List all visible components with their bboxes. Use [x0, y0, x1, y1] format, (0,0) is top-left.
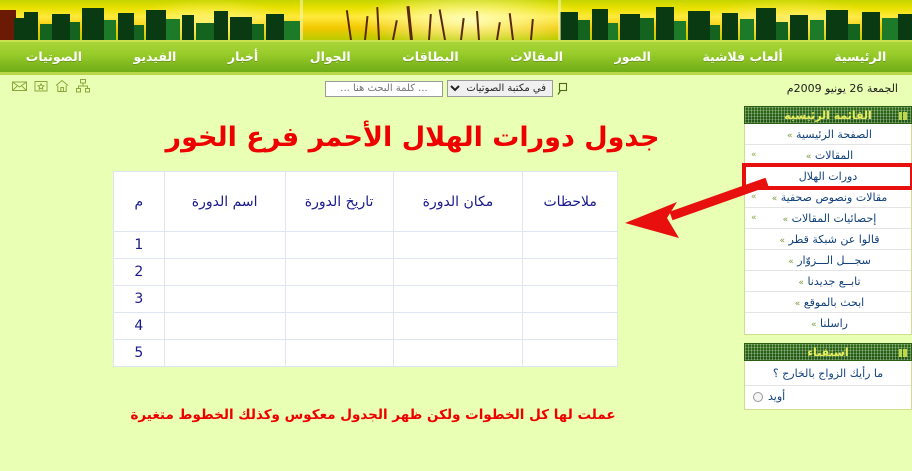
sitemap-icon[interactable]: [76, 79, 90, 93]
nav-item-1[interactable]: ألعاب فلاشية: [677, 42, 809, 72]
sidebar-item-label: قالوا عن شبكة قطر: [789, 233, 880, 246]
mail-icon[interactable]: [12, 79, 27, 93]
cell-place: [393, 259, 523, 286]
sidebar-item-label: الصفحة الرئيسية: [796, 128, 872, 141]
search-input[interactable]: [325, 81, 443, 97]
nav-item-3[interactable]: المقالات: [484, 42, 588, 72]
table-row: 5: [114, 340, 618, 367]
cell-number: 2: [114, 259, 165, 286]
banner-city-right: [560, 6, 912, 40]
chevron-icon: »: [811, 320, 817, 330]
sidebar-item-articles[interactable]: » المقالات »: [745, 145, 911, 166]
banner-city-left: [0, 6, 300, 40]
th-place: مكان الدورة: [393, 172, 523, 232]
cell-notes: [523, 340, 618, 367]
chevron-far-icon: »: [751, 187, 757, 208]
nav-item-0[interactable]: الرئيسية: [809, 42, 912, 72]
table-row: 4: [114, 313, 618, 340]
poll-radio-icon[interactable]: [753, 392, 763, 402]
courses-table-head: ملاحظات مكان الدورة تاريخ الدورة اسم الد…: [114, 172, 618, 232]
utility-bar: في مكتبة الصوتيات الجمعة 26 يونيو 2009م: [0, 76, 912, 102]
cell-notes: [523, 313, 618, 340]
th-name: اسم الدورة: [164, 172, 285, 232]
sidebar-item-label: ابحث بالموقع: [804, 296, 864, 309]
utility-icon-group: [12, 79, 90, 93]
sidebar-item-home[interactable]: الصفحة الرئيسية »: [745, 124, 911, 145]
chevron-icon: »: [787, 131, 793, 141]
nav-item-5[interactable]: الجوال: [284, 42, 377, 72]
site-banner: [0, 0, 912, 40]
search-icon[interactable]: [557, 82, 571, 96]
sidebar-item-label: مقالات ونصوص صحفية: [781, 191, 888, 204]
cell-number: 4: [114, 313, 165, 340]
courses-table-body: 1 2 3: [114, 232, 618, 367]
cell-place: [393, 286, 523, 313]
sidebar-item-label: تابــع جديدنا: [807, 275, 860, 288]
nav-item-7[interactable]: الفيديو: [108, 42, 202, 72]
sidebar-item-site-search[interactable]: ابحث بالموقع »: [745, 292, 911, 313]
cell-date: [285, 313, 393, 340]
cell-number: 3: [114, 286, 165, 313]
current-date: الجمعة 26 يونيو 2009م: [787, 82, 898, 95]
menu-grip-icon: [899, 112, 907, 120]
chevron-icon: »: [798, 278, 804, 288]
th-notes: ملاحظات: [523, 172, 618, 232]
table-row: 3: [114, 286, 618, 313]
cell-date: [285, 340, 393, 367]
cell-number: 5: [114, 340, 165, 367]
poll-option-label: أويد: [768, 390, 785, 403]
sidebar-item-hilal-courses[interactable]: دورات الهلال: [745, 166, 911, 187]
main-menu-box: القائمة الرئيسية الصفحة الرئيسية » » الم…: [744, 106, 912, 335]
sidebar-item-said-about-us[interactable]: قالوا عن شبكة قطر »: [745, 229, 911, 250]
sidebar-item-label: المقالات: [815, 149, 853, 162]
cell-place: [393, 313, 523, 340]
cell-notes: [523, 232, 618, 259]
table-row: 2: [114, 259, 618, 286]
sidebar-item-press-articles[interactable]: » مقالات ونصوص صحفية »: [745, 187, 911, 208]
main-menu-title: القائمة الرئيسية: [784, 109, 872, 122]
cell-date: [285, 259, 393, 286]
page-title: جدول دورات الهلال الأحمر فرع الخور: [0, 122, 735, 153]
main-menu-body: الصفحة الرئيسية » » المقالات » دورات اله…: [744, 124, 912, 335]
nav-underline: [0, 72, 912, 75]
main-navigation: الرئيسية ألعاب فلاشية الصور المقالات الب…: [0, 42, 912, 72]
poll-question: ما رأيك الزواج بالخارج ؟: [745, 361, 911, 386]
chevron-icon: »: [788, 257, 794, 267]
search-scope-select[interactable]: في مكتبة الصوتيات: [447, 80, 553, 97]
main-menu-header: القائمة الرئيسية: [744, 106, 912, 124]
cell-name: [164, 340, 285, 367]
nav-item-2[interactable]: الصور: [589, 42, 677, 72]
cell-name: [164, 232, 285, 259]
sidebar-item-contact-us[interactable]: راسلنا »: [745, 313, 911, 334]
sidebar-item-label: إحصائيات المقالات: [792, 212, 877, 225]
nav-item-8[interactable]: الصوتيات: [0, 42, 108, 72]
poll-header: استفتاء: [744, 343, 912, 361]
banner-trees: [330, 4, 560, 40]
cell-notes: [523, 259, 618, 286]
sidebar-item-label: دورات الهلال: [799, 170, 857, 183]
courses-table-wrapper: ملاحظات مكان الدورة تاريخ الدورة اسم الد…: [113, 171, 618, 367]
poll-grip-icon: [899, 349, 907, 357]
cell-date: [285, 286, 393, 313]
sidebar-item-article-stats[interactable]: » إحصائيات المقالات »: [745, 208, 911, 229]
chevron-far-icon: »: [751, 145, 757, 166]
favorites-icon[interactable]: [34, 79, 48, 93]
cell-number: 1: [114, 232, 165, 259]
cell-name: [164, 259, 285, 286]
cell-notes: [523, 286, 618, 313]
main-content: جدول دورات الهلال الأحمر فرع الخور ملاحظ…: [0, 106, 735, 161]
sidebar-item-label: سجـــل الـــزوّار: [797, 254, 871, 267]
sidebar-item-whats-new[interactable]: تابــع جديدنا »: [745, 271, 911, 292]
annotation-note: عملت لها كل الخطوات ولكن ظهر الجدول معكو…: [118, 406, 628, 426]
nav-item-6[interactable]: أخبار: [202, 42, 284, 72]
cell-name: [164, 286, 285, 313]
page-root: الرئيسية ألعاب فلاشية الصور المقالات الب…: [0, 0, 912, 471]
table-row: 1: [114, 232, 618, 259]
chevron-icon: »: [779, 236, 785, 246]
chevron-icon: »: [795, 299, 801, 309]
poll-option-row[interactable]: أويد: [745, 386, 911, 409]
search-area: في مكتبة الصوتيات: [325, 80, 571, 97]
chevron-icon: »: [806, 152, 812, 162]
home-icon[interactable]: [55, 79, 69, 93]
poll-box: استفتاء ما رأيك الزواج بالخارج ؟ أويد: [744, 343, 912, 410]
cell-place: [393, 232, 523, 259]
th-date: تاريخ الدورة: [285, 172, 393, 232]
nav-item-4[interactable]: البطاقات: [376, 42, 484, 72]
chevron-icon: »: [783, 215, 789, 225]
cell-place: [393, 340, 523, 367]
poll-body: ما رأيك الزواج بالخارج ؟ أويد: [744, 361, 912, 410]
table-header-row: ملاحظات مكان الدورة تاريخ الدورة اسم الد…: [114, 172, 618, 232]
courses-table: ملاحظات مكان الدورة تاريخ الدورة اسم الد…: [113, 171, 618, 367]
cell-date: [285, 232, 393, 259]
chevron-icon: »: [772, 194, 778, 204]
th-number: م: [114, 172, 165, 232]
sidebar-item-label: راسلنا: [820, 317, 848, 330]
sidebar-item-guestbook[interactable]: سجـــل الـــزوّار »: [745, 250, 911, 271]
poll-title: استفتاء: [807, 346, 848, 359]
cell-name: [164, 313, 285, 340]
sidebar: القائمة الرئيسية الصفحة الرئيسية » » الم…: [740, 106, 912, 418]
chevron-far-icon: »: [751, 208, 757, 229]
